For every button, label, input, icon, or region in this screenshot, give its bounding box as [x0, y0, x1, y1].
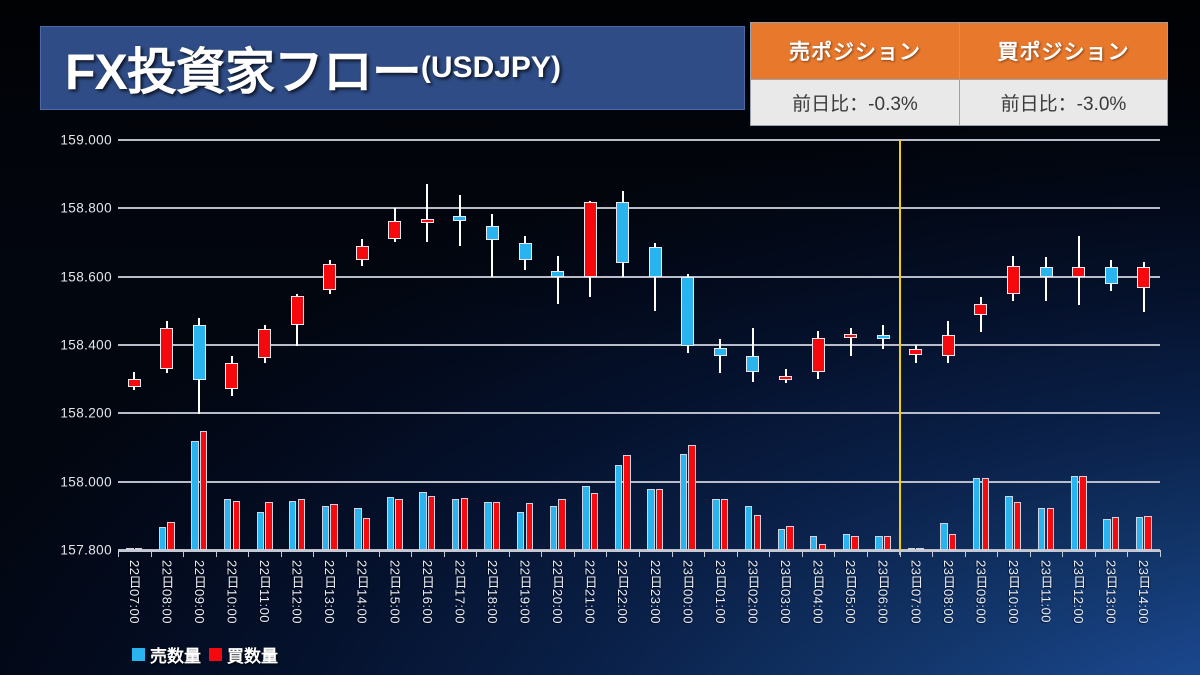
candlestick [714, 140, 727, 550]
x-axis-label: 23日12:00 [1069, 560, 1088, 624]
candle-body-down [681, 277, 694, 345]
buy-volume-bar [591, 493, 598, 550]
candlestick [909, 140, 922, 550]
sell-volume-bar [322, 506, 329, 550]
x-axis-tick [118, 550, 119, 557]
candle-wick [491, 214, 493, 277]
x-axis-tick [1030, 550, 1031, 557]
sell-volume-bar [712, 499, 719, 550]
candle-body-up [225, 363, 238, 389]
price-axis-tick: 158.800 [60, 201, 112, 216]
x-axis-tick [574, 550, 575, 557]
x-axis-tick [1062, 550, 1063, 557]
x-axis-tick [444, 550, 445, 557]
x-axis-label: 23日03:00 [776, 560, 795, 624]
buy-volume-bar [363, 518, 370, 550]
price-axis-tick: 158.000 [60, 474, 112, 489]
sell-volume-bar [191, 441, 198, 550]
sell-volume-bar [973, 478, 980, 550]
legend-item-sell-volume: 売数量 [132, 642, 201, 667]
fx-candlestick-chart: 159.000158.800158.600158.400158.200158.0… [0, 140, 1200, 675]
candle-body-down [519, 243, 532, 261]
buy-volume-bar [428, 496, 435, 550]
candle-body-up [1137, 267, 1150, 288]
candle-body-down [616, 202, 629, 264]
x-axis-label: 23日05:00 [841, 560, 860, 624]
buy-volume-bar [200, 431, 207, 550]
candlestick [453, 140, 466, 550]
x-axis-tick [802, 550, 803, 557]
gridline [118, 207, 1160, 209]
x-axis-tick [379, 550, 380, 557]
x-axis-label: 22日18:00 [483, 560, 502, 624]
x-axis-label: 22日12:00 [288, 560, 307, 624]
chart-legend: 売数量買数量 [132, 642, 278, 667]
candlestick [844, 140, 857, 550]
candlestick [225, 140, 238, 550]
gridline [118, 344, 1160, 346]
x-axis-label: 23日14:00 [1134, 560, 1153, 624]
x-axis-label: 23日06:00 [874, 560, 893, 624]
sell-volume-bar [550, 506, 557, 550]
x-axis-label: 23日01:00 [711, 560, 730, 624]
x-axis-tick [476, 550, 477, 557]
sell-volume-bar [1005, 496, 1012, 550]
candle-body-up [844, 334, 857, 338]
x-axis-tick [672, 550, 673, 557]
price-axis-tick: 158.200 [60, 406, 112, 421]
candle-body-down [877, 335, 890, 339]
buy-volume-bar [786, 526, 793, 550]
buy-volume-bar [233, 501, 240, 550]
x-axis-label: 22日16:00 [418, 560, 437, 624]
candlestick [746, 140, 759, 550]
x-axis-label: 23日09:00 [971, 560, 990, 624]
buy-volume-bar [982, 478, 989, 550]
candle-body-up [323, 264, 336, 291]
buy-volume-bar [265, 502, 272, 550]
candle-body-down [1105, 267, 1118, 284]
sell-volume-bar [159, 527, 166, 550]
buy-volume-bar [1112, 517, 1119, 550]
x-axis-label: 22日11:00 [255, 560, 274, 623]
candlestick [258, 140, 271, 550]
buy-position-change: 前日比：-3.0% [960, 79, 1167, 125]
x-axis-label: 23日11:00 [1037, 560, 1056, 623]
candle-body-up [909, 349, 922, 355]
candle-wick [1045, 257, 1047, 301]
x-axis-tick [509, 550, 510, 557]
candlestick [551, 140, 564, 550]
x-axis-label: 22日09:00 [190, 560, 209, 624]
sell-volume-bar [289, 501, 296, 550]
candle-body-down [649, 247, 662, 277]
sell-position-change: 前日比：-0.3% [751, 79, 959, 125]
x-axis-tick [769, 550, 770, 557]
candle-wick [850, 328, 852, 356]
gridline [118, 412, 1160, 414]
x-axis-tick [281, 550, 282, 557]
sell-volume-bar [419, 492, 426, 550]
x-axis-tick [183, 550, 184, 557]
legend-label: 買数量 [227, 642, 278, 667]
sell-volume-bar [647, 489, 654, 550]
sell-volume-bar [843, 534, 850, 550]
x-axis-label: 22日08:00 [157, 560, 176, 624]
x-axis-tick [313, 550, 314, 557]
candlestick [812, 140, 825, 550]
candle-body-up [584, 202, 597, 277]
buy-volume-bar [1047, 508, 1054, 550]
candle-body-down [551, 271, 564, 277]
candlestick [1137, 140, 1150, 550]
candle-body-up [128, 379, 141, 387]
x-axis-tick [737, 550, 738, 557]
candlestick [421, 140, 434, 550]
legend-item-buy-volume: 買数量 [209, 642, 278, 667]
legend-swatch-icon [209, 648, 222, 661]
x-axis-label: 22日17:00 [450, 560, 469, 624]
candle-body-up [1072, 267, 1085, 277]
sell-volume-bar [1071, 476, 1078, 550]
sell-volume-bar [1136, 517, 1143, 550]
x-axis-label: 22日21:00 [581, 560, 600, 624]
sell-volume-bar [940, 523, 947, 550]
x-axis-label: 22日15:00 [385, 560, 404, 624]
x-axis-label: 22日20:00 [548, 560, 567, 624]
candle-body-up [1007, 266, 1020, 294]
candle-body-up [160, 328, 173, 369]
gridline [118, 139, 1160, 141]
candle-body-up [942, 335, 955, 356]
sell-volume-bar [680, 454, 687, 550]
sell-volume-bar [875, 536, 882, 550]
candlestick [779, 140, 792, 550]
x-axis-label: 23日07:00 [906, 560, 925, 624]
x-axis-tick [834, 550, 835, 557]
buy-volume-bar [1079, 476, 1086, 550]
buy-volume-bar [1144, 516, 1151, 550]
sell-position-column: 売ポジション 前日比：-0.3% [751, 23, 959, 125]
x-axis-tick [346, 550, 347, 557]
x-axis-tick [248, 550, 249, 557]
candle-body-up [974, 304, 987, 315]
buy-volume-bar [884, 536, 891, 550]
candle-body-up [812, 338, 825, 372]
x-axis-label: 22日23:00 [646, 560, 665, 624]
position-summary-table: 売ポジション 前日比：-0.3% 買ポジション 前日比：-3.0% [750, 22, 1168, 126]
candle-wick [557, 256, 559, 304]
x-axis-tick [639, 550, 640, 557]
buy-volume-bar [558, 499, 565, 550]
x-axis-label: 22日14:00 [353, 560, 372, 624]
sell-volume-bar [810, 536, 817, 550]
x-axis-tick [151, 550, 152, 557]
buy-volume-bar [656, 489, 663, 550]
candle-body-up [779, 376, 792, 380]
candle-body-down [1040, 267, 1053, 277]
x-axis-tick [704, 550, 705, 557]
x-axis-tick [965, 550, 966, 557]
candle-body-down [453, 216, 466, 221]
buy-position-column: 買ポジション 前日比：-3.0% [959, 23, 1167, 125]
x-axis-label: 22日13:00 [320, 560, 339, 624]
x-axis-tick [1095, 550, 1096, 557]
sell-volume-bar [582, 486, 589, 550]
gridline [118, 481, 1160, 483]
candle-wick [752, 328, 754, 382]
candlestick [160, 140, 173, 550]
sell-volume-bar [517, 512, 524, 550]
x-axis-label: 22日19:00 [516, 560, 535, 624]
buy-volume-bar [623, 455, 630, 550]
x-axis-tick [1160, 550, 1161, 557]
candle-body-up [421, 219, 434, 223]
x-axis-tick [1127, 550, 1128, 557]
candlestick [1007, 140, 1020, 550]
candle-wick [426, 184, 428, 242]
buy-volume-bar [167, 522, 174, 550]
x-axis-tick [997, 550, 998, 557]
x-axis-tick [867, 550, 868, 557]
x-axis-label: 22日22:00 [613, 560, 632, 624]
sell-volume-bar [778, 529, 785, 550]
title-bar: FX投資家フロー (USDJPY) [40, 26, 745, 110]
page-subtitle: (USDJPY) [421, 51, 561, 85]
price-axis-tick: 157.800 [60, 543, 112, 558]
sell-volume-bar [387, 497, 394, 550]
candle-body-up [356, 246, 369, 260]
x-axis-label: 23日00:00 [678, 560, 697, 624]
buy-volume-bar [330, 504, 337, 550]
price-axis-tick: 158.400 [60, 338, 112, 353]
buy-volume-bar [461, 498, 468, 550]
current-time-marker [899, 140, 902, 555]
candlestick [388, 140, 401, 550]
candlestick [486, 140, 499, 550]
gridline [118, 276, 1160, 278]
buy-volume-bar [851, 536, 858, 550]
legend-label: 売数量 [150, 642, 201, 667]
candle-body-down [486, 226, 499, 240]
page-title: FX投資家フロー [65, 32, 421, 104]
x-axis-tick [411, 550, 412, 557]
x-axis-label: 23日08:00 [939, 560, 958, 624]
candle-body-up [388, 221, 401, 239]
candlestick [356, 140, 369, 550]
sell-volume-bar [354, 508, 361, 550]
buy-volume-bar [721, 499, 728, 550]
legend-swatch-icon [132, 648, 145, 661]
price-axis-tick: 159.000 [60, 133, 112, 148]
candle-body-down [193, 325, 206, 380]
candlestick [1040, 140, 1053, 550]
candlestick [128, 140, 141, 550]
buy-volume-bar [493, 502, 500, 550]
x-axis-tick [606, 550, 607, 557]
x-axis-label: 22日10:00 [222, 560, 241, 624]
buy-volume-bar [949, 534, 956, 550]
candlestick [942, 140, 955, 550]
candle-body-up [258, 329, 271, 358]
buy-volume-bar [298, 499, 305, 550]
candle-body-up [291, 296, 304, 325]
buy-volume-bar [688, 445, 695, 550]
sell-volume-bar [452, 499, 459, 550]
x-axis-tick [216, 550, 217, 557]
price-axis-tick: 158.600 [60, 269, 112, 284]
x-axis-label: 22日07:00 [125, 560, 144, 624]
candlestick [323, 140, 336, 550]
candlestick [519, 140, 532, 550]
candle-wick [719, 339, 721, 373]
buy-volume-bar [526, 503, 533, 550]
x-axis-label: 23日04:00 [809, 560, 828, 624]
buy-volume-bar [754, 515, 761, 550]
x-axis-label: 23日10:00 [1004, 560, 1023, 624]
sell-volume-bar [615, 465, 622, 550]
buy-volume-bar [1014, 502, 1021, 550]
candlestick [291, 140, 304, 550]
x-axis-tick [900, 550, 901, 557]
sell-volume-bar [484, 502, 491, 550]
sell-volume-bar [257, 512, 264, 550]
candlestick [1105, 140, 1118, 550]
buy-position-header: 買ポジション [960, 23, 1167, 79]
x-axis-label: 23日02:00 [743, 560, 762, 624]
candlestick [877, 140, 890, 550]
sell-volume-bar [224, 499, 231, 550]
x-axis-tick [541, 550, 542, 557]
price-axis-labels: 159.000158.800158.600158.400158.200158.0… [0, 140, 112, 550]
plot-area [118, 140, 1160, 550]
candle-body-down [714, 348, 727, 356]
sell-position-header: 売ポジション [751, 23, 959, 79]
buy-volume-bar [395, 499, 402, 550]
sell-volume-bar [1038, 508, 1045, 550]
x-axis-label: 23日13:00 [1102, 560, 1121, 624]
x-axis-tick [932, 550, 933, 557]
sell-volume-bar [1103, 519, 1110, 550]
sell-volume-bar [745, 506, 752, 550]
candle-body-down [746, 356, 759, 372]
